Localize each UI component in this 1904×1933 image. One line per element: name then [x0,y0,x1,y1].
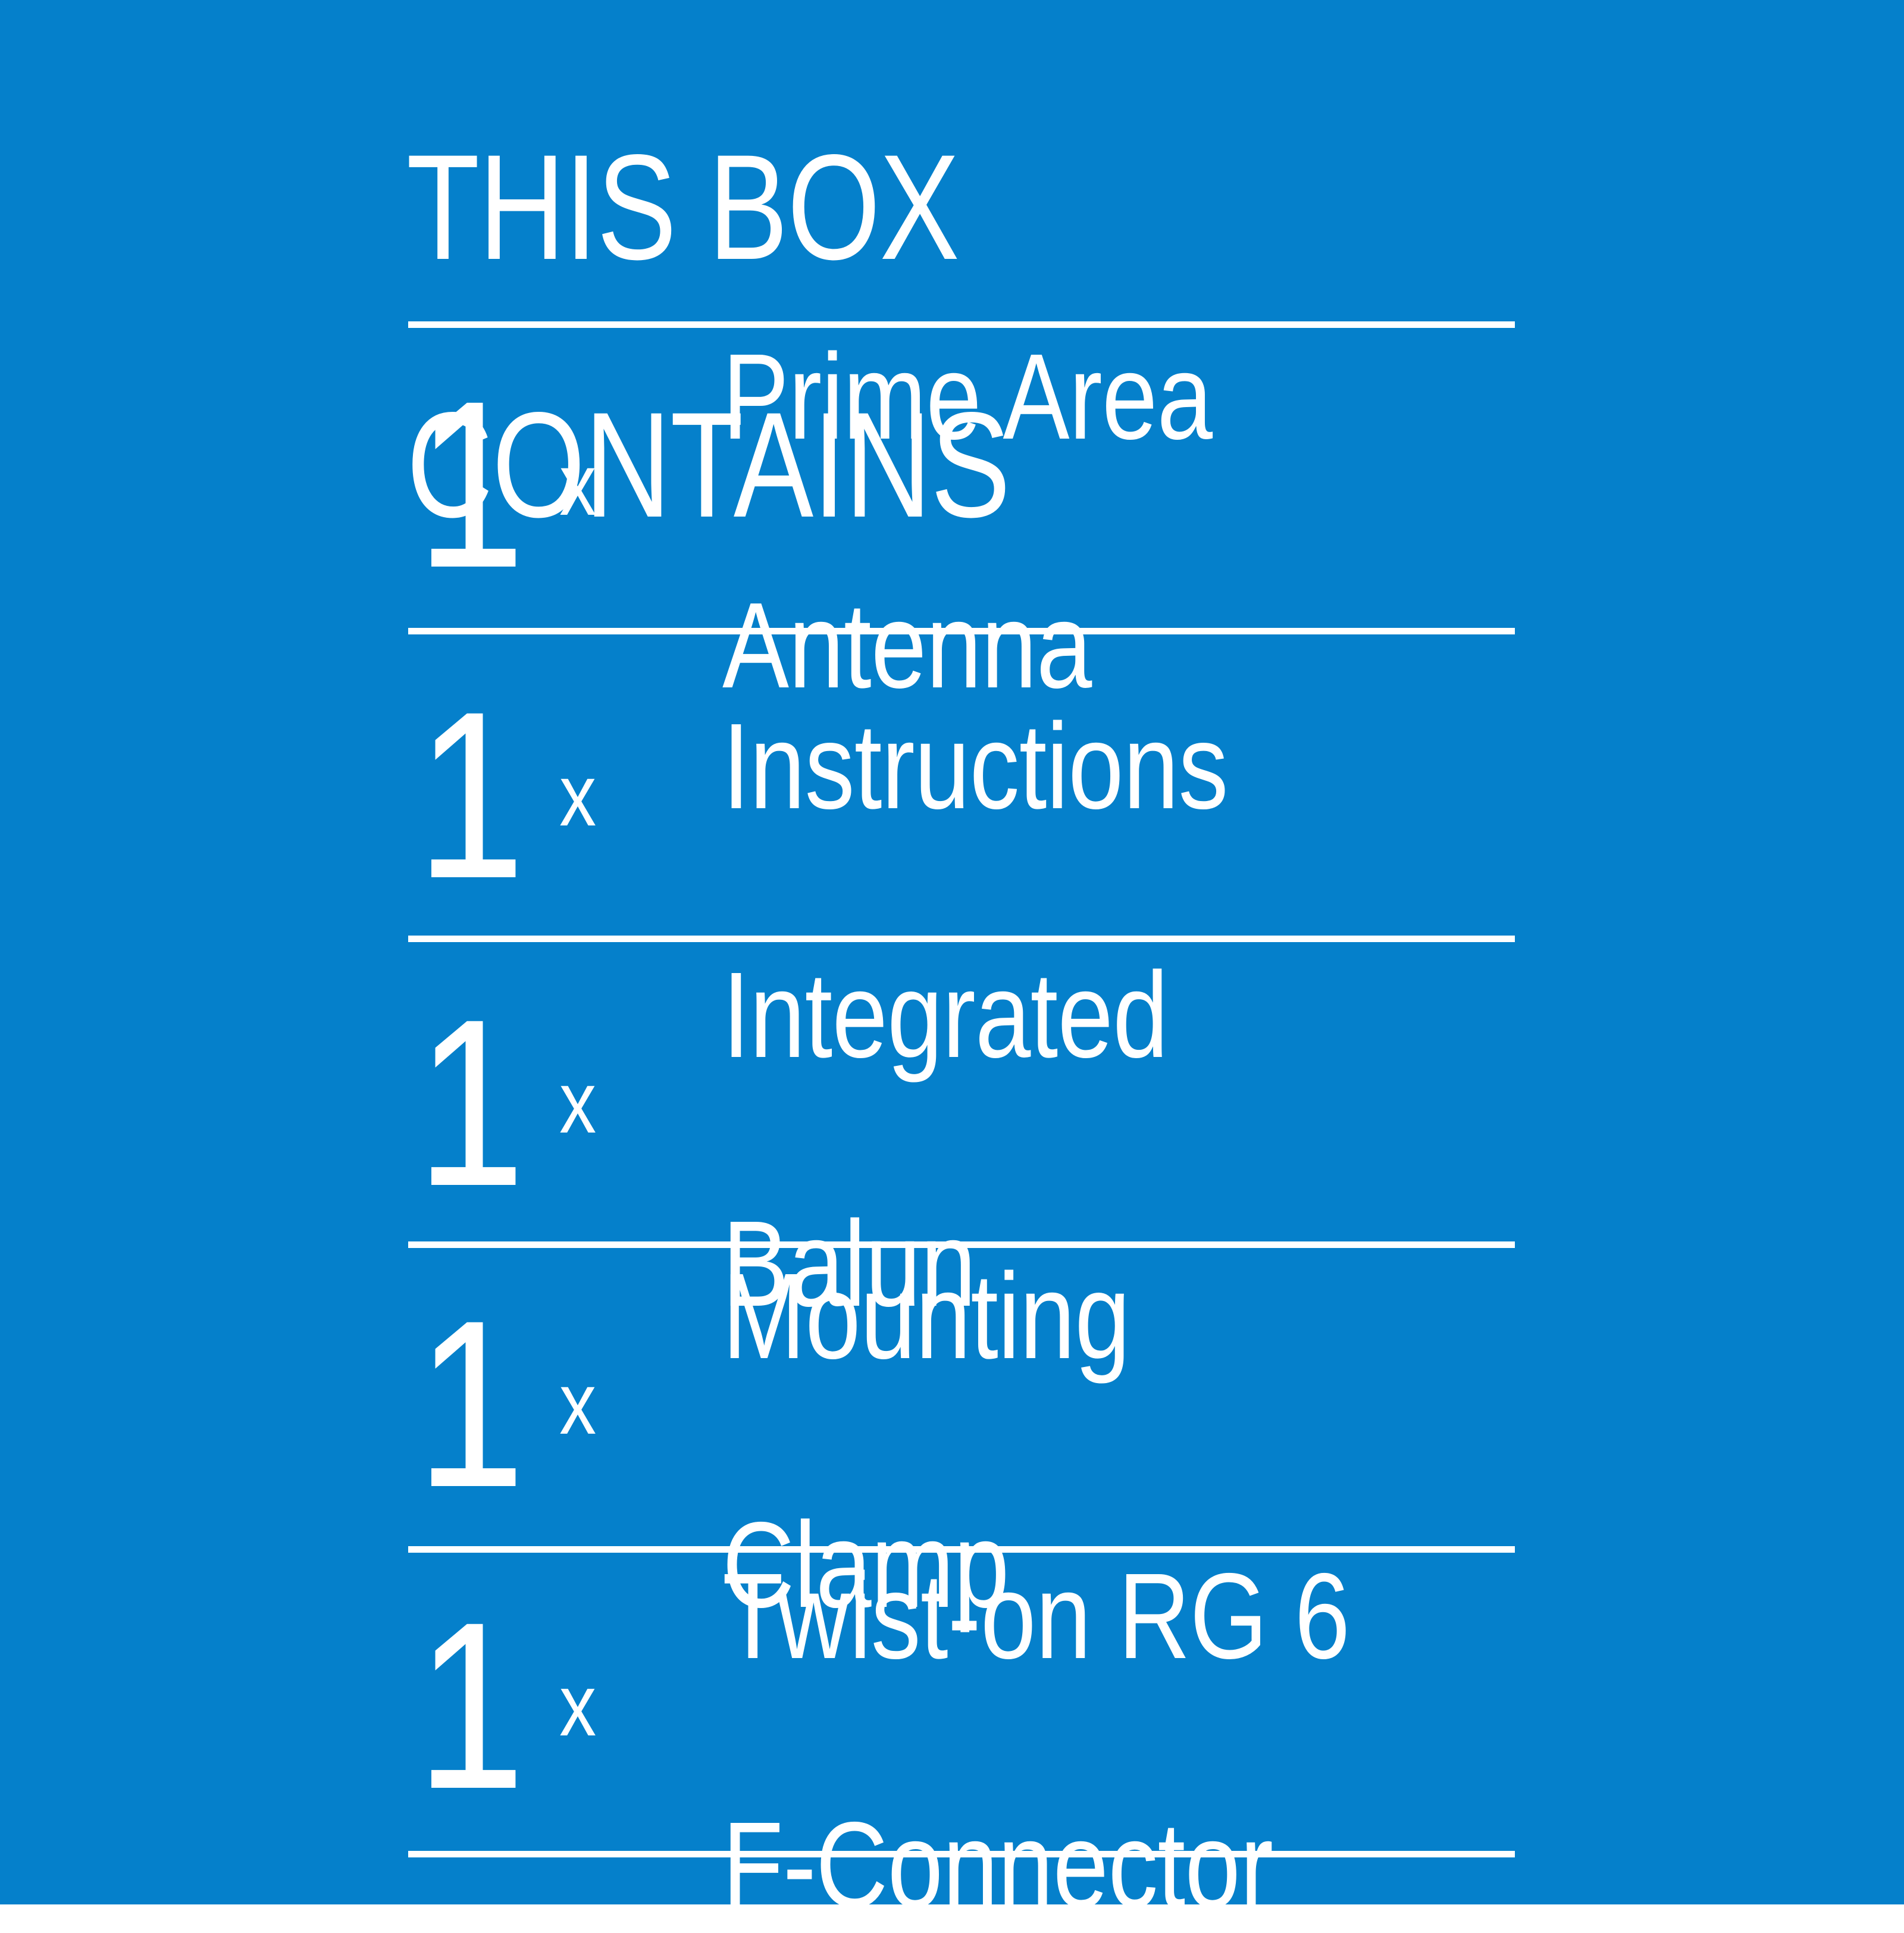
divider-row-1 [408,628,1515,634]
item-multiplier-x-symbol: x [559,441,596,529]
item-quantity: 1 [416,676,525,914]
item-multiplier-x-symbol: x [559,752,596,840]
page-title-line-1: THIS BOX [406,143,1311,273]
list-item: 1 x Twist-on RG 6 F-Connector [408,1553,1539,1851]
item-multiplier-x-symbol: x [559,1662,596,1750]
item-quantity: 1 [416,365,525,603]
item-quantity: 1 [416,984,525,1222]
item-quantity: 1 [416,1285,525,1523]
list-item: 1 x Integrated Balun [408,942,1539,1241]
item-name-line-1: Twist-on RG 6 [722,1554,1405,1678]
item-name-line-1: Prime Area [722,334,1405,459]
divider-header [408,321,1515,328]
box-contents-panel: THIS BOX CONTAINS 1 x Prime Area Antenna… [0,0,1904,1904]
item-name: Twist-on RG 6 F-Connector [722,1554,1405,1927]
item-name-line-1: Integrated [722,953,1405,1077]
item-quantity: 1 [416,1587,525,1825]
divider-row-5 [408,1851,1515,1857]
divider-row-3 [408,1241,1515,1248]
list-item: 1 x Instructions [408,634,1539,936]
list-item: 1 x Mounting Clamp [408,1248,1539,1546]
item-multiplier-x-symbol: x [559,1360,596,1448]
item-name-line-2: F-Connector [722,1803,1405,1927]
item-name-line-1: Instructions [722,704,1405,828]
item-multiplier-x-symbol: x [559,1059,596,1147]
divider-row-2 [408,936,1515,942]
list-item: 1 x Prime Area Antenna [408,328,1539,628]
item-name: Instructions [722,704,1405,828]
item-name-line-1: Mounting [722,1254,1405,1378]
